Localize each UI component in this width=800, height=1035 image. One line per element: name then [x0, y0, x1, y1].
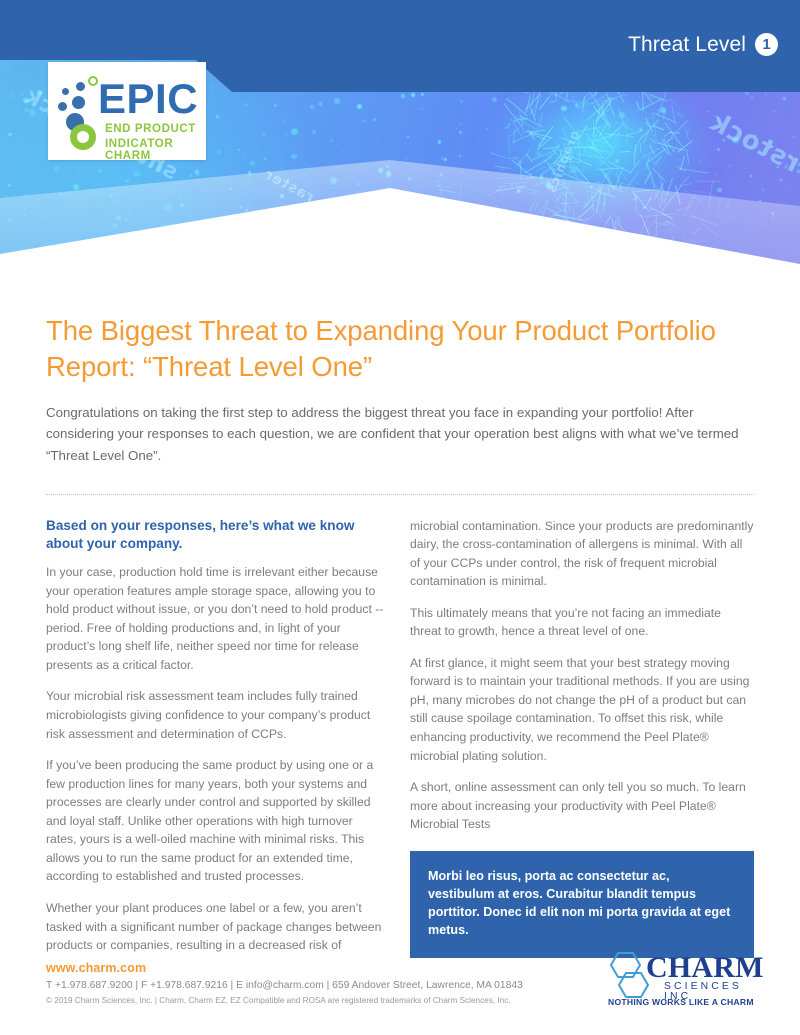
logo-green-ring-small: [88, 76, 98, 86]
banner-filament: [620, 151, 630, 153]
banner-speck: [210, 170, 212, 172]
banner-speck: [57, 60, 58, 61]
banner-speck: [283, 121, 285, 123]
banner-filament: [625, 119, 627, 145]
banner-speck: [717, 148, 720, 151]
banner-speck: [217, 150, 221, 154]
banner-speck: [762, 189, 763, 190]
banner-speck: [190, 174, 192, 176]
left-column: Based on your responses, here’s what we …: [46, 517, 386, 958]
banner-speck: [244, 154, 246, 156]
footer-website-link[interactable]: www.charm.com: [46, 961, 523, 975]
footer-contact-line: T +1.978.687.9200 | F +1.978.687.9216 | …: [46, 978, 523, 993]
banner-speck: [751, 97, 753, 99]
banner-speck: [700, 161, 701, 162]
charm-wordmark: CHARM: [646, 953, 764, 983]
banner-speck: [783, 97, 786, 100]
banner-speck: [244, 103, 248, 107]
logo-subtitle-line1: END PRODUCT: [105, 124, 196, 136]
banner-speck: [544, 160, 546, 162]
callout-box: Morbi leo risus, porta ac consectetur ac…: [410, 851, 754, 958]
banner-speck: [54, 166, 59, 171]
left-column-heading: Based on your responses, here’s what we …: [46, 517, 386, 554]
threat-level-label: Threat Level: [628, 34, 746, 55]
banner-speck: [346, 100, 347, 101]
banner-speck: [411, 93, 414, 96]
banner-speck: [319, 102, 323, 106]
banner-speck: [500, 167, 501, 168]
banner-speck: [376, 141, 377, 142]
body-paragraph: In your case, production hold time is ir…: [46, 563, 386, 674]
report-page: Threat Level 1 shutterstock raster graph…: [0, 0, 800, 1035]
banner-speck: [793, 136, 795, 138]
banner-speck: [406, 158, 408, 160]
banner-filament: [695, 181, 720, 182]
banner-speck: [216, 115, 219, 118]
banner-speck: [198, 174, 199, 175]
banner-speck: [212, 87, 214, 89]
banner-filament: [655, 156, 662, 165]
banner-filament: [640, 143, 641, 152]
banner-filament: [686, 149, 690, 164]
banner-speck: [329, 109, 330, 110]
banner-filament: [549, 100, 556, 103]
banner-speck: [342, 149, 344, 151]
banner-speck: [615, 159, 619, 163]
banner-speck: [21, 93, 23, 95]
banner-filament: [593, 120, 594, 139]
banner-speck: [460, 100, 463, 103]
banner-speck: [8, 133, 12, 137]
banner-speck: [729, 165, 731, 167]
banner-speck: [530, 173, 532, 175]
banner-speck: [421, 93, 423, 95]
banner-speck: [605, 174, 606, 175]
banner-filament: [507, 123, 511, 129]
banner-speck: [312, 130, 316, 134]
banner-speck: [6, 196, 8, 198]
banner-speck: [15, 106, 16, 107]
logo-subtitle-line2: INDICATOR CHARM: [105, 139, 206, 162]
banner-speck: [459, 131, 462, 134]
banner-speck: [505, 127, 508, 130]
banner-filament: [669, 98, 677, 105]
banner-speck: [608, 128, 609, 129]
banner-speck: [639, 128, 642, 131]
banner-speck: [126, 180, 128, 182]
banner-filament: [489, 152, 505, 158]
body-paragraph: At first glance, it might seem that your…: [410, 654, 754, 765]
banner-speck: [525, 111, 527, 113]
right-column: microbial contamination. Since your prod…: [410, 517, 754, 958]
epic-logo: EPIC END PRODUCT INDICATOR CHARM: [48, 62, 206, 160]
banner-speck: [274, 104, 277, 107]
footer-contact-block: www.charm.com T +1.978.687.9200 | F +1.9…: [46, 961, 523, 1007]
body-paragraph: If you’ve been producing the same produc…: [46, 756, 386, 886]
banner-filament: [667, 138, 673, 143]
banner-speck: [421, 108, 423, 110]
banner-speck: [129, 179, 130, 180]
page-title: The Biggest Threat to Expanding Your Pro…: [46, 313, 754, 385]
banner-filament: [583, 162, 592, 166]
footer-legal-line: © 2019 Charm Sciences, Inc. | Charm, Cha…: [46, 995, 523, 1007]
logo-blue-dot: [62, 88, 69, 95]
banner-speck: [401, 94, 405, 98]
banner-speck: [781, 183, 783, 185]
banner-speck: [745, 168, 746, 169]
banner-speck: [441, 157, 443, 159]
banner-speck: [619, 112, 625, 118]
threat-level-indicator: Threat Level 1: [628, 33, 778, 56]
banner-speck: [460, 123, 461, 124]
banner-speck: [780, 179, 782, 181]
banner-speck: [373, 118, 377, 122]
charm-tagline: NOTHING WORKS LIKE A CHARM: [608, 998, 754, 1007]
banner-filament: [679, 168, 709, 174]
banner-speck: [653, 162, 655, 164]
banner-speck: [133, 171, 139, 177]
logo-blue-dot: [58, 102, 67, 111]
banner-speck: [364, 120, 366, 122]
logo-wordmark: EPIC: [98, 78, 198, 120]
banner-speck: [765, 93, 766, 94]
main-content: The Biggest Threat to Expanding Your Pro…: [0, 280, 800, 958]
banner-speck: [716, 174, 717, 175]
banner-speck: [561, 106, 566, 111]
body-paragraph: A short, online assessment can only tell…: [410, 778, 754, 834]
banner-speck: [73, 184, 79, 190]
banner-speck: [586, 110, 587, 111]
charm-sciences-logo: CHARM SCIENCES INC NOTHING WORKS LIKE A …: [602, 951, 754, 1007]
banner-speck: [310, 105, 314, 109]
banner-speck: [711, 114, 712, 115]
banner-speck: [459, 155, 461, 157]
body-paragraph: Your microbial risk assessment team incl…: [46, 687, 386, 743]
banner-speck: [492, 97, 497, 102]
banner-filament: [506, 98, 528, 116]
banner-filament: [508, 135, 510, 156]
logo-blue-dot: [72, 96, 85, 109]
banner-speck: [8, 184, 11, 187]
banner-speck: [334, 98, 340, 104]
banner-speck: [330, 139, 333, 142]
body-paragraph: Whether your plant produces one label or…: [46, 899, 386, 955]
logo-blue-dot: [76, 82, 85, 91]
banner-speck: [438, 140, 441, 143]
banner-speck: [9, 95, 11, 97]
watermark-text: rstock: [705, 107, 800, 179]
banner-speck: [289, 124, 290, 125]
banner-speck: [407, 136, 408, 137]
banner-speck: [291, 154, 296, 159]
banner-speck: [707, 111, 709, 113]
banner-speck: [357, 104, 362, 109]
banner-speck: [455, 128, 456, 129]
body-paragraph: microbial contamination. Since your prod…: [410, 517, 754, 591]
banner-speck: [285, 134, 286, 135]
banner-speck: [281, 167, 282, 168]
banner-filament: [636, 101, 640, 109]
banner-speck: [218, 165, 219, 166]
banner-speck: [238, 149, 240, 151]
body-paragraph: This ultimately means that you’re not fa…: [410, 604, 754, 641]
banner-speck: [759, 200, 760, 201]
dotted-divider: [46, 494, 754, 495]
banner-speck: [575, 103, 579, 107]
banner-speck: [478, 137, 479, 138]
banner-filament: [595, 182, 600, 183]
banner-speck: [264, 158, 266, 160]
banner-speck: [36, 164, 38, 166]
banner-speck: [717, 188, 721, 192]
banner-speck: [71, 185, 72, 186]
intro-paragraph: Congratulations on taking the first step…: [46, 402, 746, 467]
banner-speck: [291, 128, 298, 135]
banner-speck: [639, 96, 640, 97]
two-column-body: Based on your responses, here’s what we …: [46, 517, 754, 958]
banner-speck: [503, 169, 504, 170]
logo-green-ring-large: [70, 124, 96, 150]
banner-speck: [7, 67, 8, 68]
banner-speck: [514, 120, 516, 122]
banner-speck: [698, 123, 699, 124]
banner-filament: [677, 111, 684, 117]
banner-speck: [521, 117, 525, 121]
banner-speck: [773, 110, 775, 112]
banner-speck: [99, 169, 102, 172]
banner-speck: [12, 93, 13, 94]
banner-speck: [676, 140, 677, 141]
page-footer: www.charm.com T +1.978.687.9200 | F +1.9…: [46, 951, 754, 1007]
banner-speck: [444, 158, 447, 161]
banner-speck: [750, 175, 752, 177]
banner-speck: [263, 133, 265, 135]
banner-speck: [486, 128, 488, 130]
banner-speck: [727, 170, 728, 171]
banner-speck: [280, 163, 282, 165]
banner-speck: [609, 174, 610, 175]
banner-speck: [77, 173, 79, 175]
threat-level-badge: 1: [755, 33, 778, 56]
